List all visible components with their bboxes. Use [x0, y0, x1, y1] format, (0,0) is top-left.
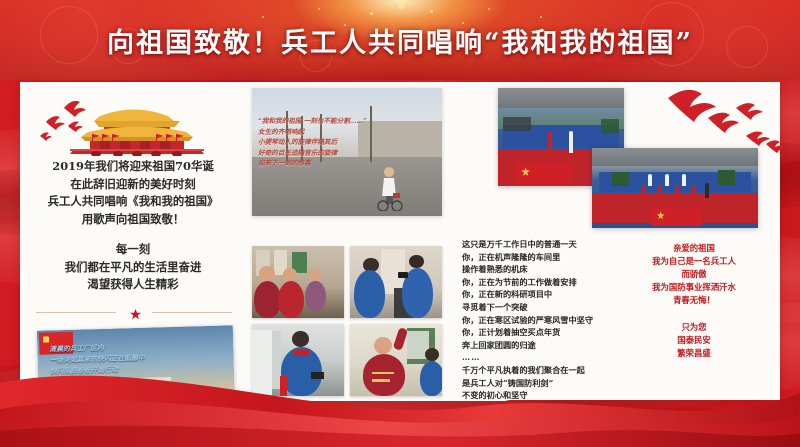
body-line-ellipsis: …… — [462, 351, 612, 364]
waving-girl-photo — [350, 324, 442, 396]
intro2-line-3: 渴望获得人生精彩 — [24, 276, 242, 294]
red-line-4: 我为国防事业挥洒汗水 — [626, 281, 762, 294]
left-column: 2019年我们将迎来祖国70华诞 在此辞旧迎新的美好时刻 兵工人共同唱响《我和我… — [24, 84, 242, 398]
body-line-5: 你，正在新的科研项目中 — [462, 288, 612, 301]
intro-line-1: 2019年我们将迎来祖国70华诞 — [24, 158, 242, 176]
body-line-2: 你，正在机声隆隆的车间里 — [462, 251, 612, 264]
body-line-7: 你，正在寒区试验的严寒风雪中坚守 — [462, 314, 612, 327]
body-line-6: 寻觅着下一个突破 — [462, 301, 612, 314]
mt-caption-3: 小提琴动人的旋律伴随其后 — [258, 137, 438, 148]
intro-line-2: 在此辞旧迎新的美好时刻 — [24, 176, 242, 194]
mt-caption-2: 女生的齐唱响起 — [258, 127, 438, 138]
red-line-5: 青春无悔！ — [626, 294, 762, 307]
body-line-11: 是兵工人对“铸国防利剑” — [462, 377, 612, 390]
tiananmen-gate-icon — [34, 86, 234, 156]
body-line-1: 这只是万千工作日中的普通一天 — [462, 238, 612, 251]
photo-grid — [252, 246, 442, 398]
mt-caption-4: 好奇的目光追随音乐的旋律 — [258, 148, 438, 159]
red-line-7: 国泰民安 — [626, 334, 762, 347]
workers-talking-photo — [350, 246, 442, 318]
body-line-12: 不变的初心和坚守 — [462, 389, 612, 402]
mt-caption-1: “我和我的祖国 一刻也不能分割……” — [258, 116, 438, 127]
intro-line-4: 用歌声向祖国致敬！ — [24, 211, 242, 229]
left-intro-text: 2019年我们将迎来祖国70华诞 在此辞旧迎新的美好时刻 兵工人共同唱响《我和我… — [24, 158, 242, 294]
cyclist-figure — [374, 165, 404, 211]
body-line-4: 你，正在为节前的工作做着安排 — [462, 276, 612, 289]
engineer-workshop-photo — [252, 324, 344, 396]
red-line-6: 只为您 — [626, 321, 762, 334]
intro-line-3: 兵工人共同唱响《我和我的祖国》 — [24, 193, 242, 211]
middle-body-text: 这只是万千工作日中的普通一天 你，正在机声隆隆的车间里 操作着熟悉的机床 你，正… — [462, 238, 612, 402]
classroom-singers-photo — [252, 246, 344, 318]
red-line-8: 繁荣昌盛 — [626, 347, 762, 360]
red-line-3: 而骄傲 — [626, 268, 762, 281]
star-divider — [36, 306, 232, 318]
red-line-1: 亲爱的祖国 — [626, 242, 762, 255]
mt-caption-5: 迎来下一刻的惊喜 — [258, 158, 438, 169]
body-line-9: 奔上回家团圆的归途 — [462, 339, 612, 352]
header-banner: 向祖国致敬！兵工人共同唱响“我和我的祖国” — [0, 0, 800, 80]
factory-photo-caption: 清晨的兵工厂区内 一场突如其来的快闪正在酝酿中 快闪队员纷纷开始行动 — [49, 339, 228, 377]
cyclist-photo-caption: “我和我的祖国 一刻也不能分割……” 女生的齐唱响起 小提琴动人的旋律伴随其后 … — [258, 116, 438, 169]
intro2-line-1: 每一刻 — [24, 241, 242, 259]
body-line-10: 千万个平凡执着的我们聚合在一起 — [462, 364, 612, 377]
poster-canvas: 向祖国致敬！兵工人共同唱响“我和我的祖国” — [0, 0, 800, 447]
body-line-3: 操作着熟悉的机床 — [462, 263, 612, 276]
cyclist-street-photo: “我和我的祖国 一刻也不能分割……” 女生的齐唱响起 小提琴动人的旋律伴随其后 … — [252, 88, 442, 216]
right-red-text: 亲爱的祖国 我为自己是一名兵工人 而骄傲 我为国防事业挥洒汗水 青春无悔！ 只为… — [626, 242, 762, 360]
body-line-8: 你，正计划着抽空买点年货 — [462, 326, 612, 339]
factory-dawn-photo: 清晨的兵工厂区内 一场突如其来的快闪正在酝酿中 快闪队员纷纷开始行动 — [37, 325, 235, 416]
red-line-2: 我为自己是一名兵工人 — [626, 255, 762, 268]
intro2-line-2: 我们都在平凡的生活里奋进 — [24, 259, 242, 277]
poster-title: 向祖国致敬！兵工人共同唱响“我和我的祖国” — [0, 0, 800, 80]
red-star-icon — [130, 307, 141, 318]
flying-doves-icon — [648, 84, 794, 176]
